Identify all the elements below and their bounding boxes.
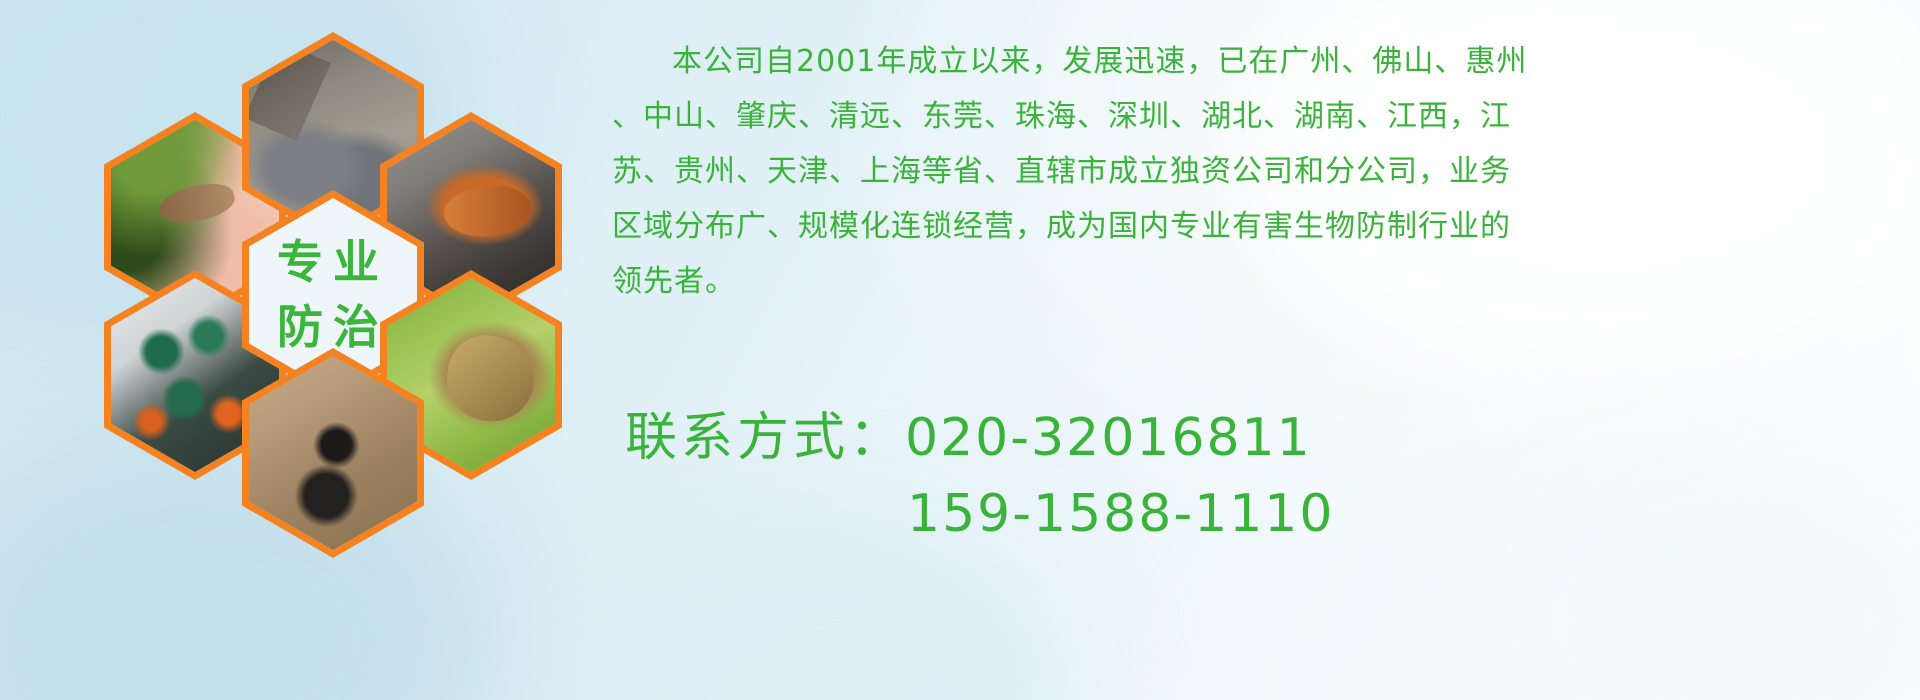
slogan-text: 专业 防治 [277,230,389,361]
intro-line: 领先者。 [612,254,1912,309]
company-intro-paragraph: 本公司自2001年成立以来，发展迅速，已在广州、佛山、惠州 、中山、肇庆、清远、… [612,34,1912,309]
slogan-line-1: 专业 [277,230,389,295]
copy-column: 本公司自2001年成立以来，发展迅速，已在广州、佛山、惠州 、中山、肇庆、清远、… [612,34,1912,309]
contact-block: 联系方式：020-32016811 159-1588-1110 [625,400,1334,552]
phone-primary[interactable]: 020-32016811 [905,408,1312,468]
banner-root: 专业 防治 本公司自2001年成立以来，发展迅速，已在广州、佛山、惠州 、中山、… [0,0,1920,700]
honeycomb-collage: 专业 防治 [78,4,598,564]
contact-primary-line: 联系方式：020-32016811 [625,400,1334,476]
intro-line: 本公司自2001年成立以来，发展迅速，已在广州、佛山、惠州 [612,34,1912,89]
contact-secondary-line: 159-1588-1110 [625,476,1334,552]
phone-secondary[interactable]: 159-1588-1110 [907,484,1334,544]
background-blob [1480,420,1920,700]
intro-line: 苏、贵州、天津、上海等省、直辖市成立独资公司和分公司，业务 [612,144,1912,199]
intro-line: 、中山、肇庆、清远、东莞、珠海、深圳、湖北、湖南、江西，江 [612,89,1912,144]
ant-icon [249,356,417,550]
intro-line: 区域分布广、规模化连锁经营，成为国内专业有害生物防制行业的 [612,199,1912,254]
contact-label: 联系方式： [625,408,905,468]
